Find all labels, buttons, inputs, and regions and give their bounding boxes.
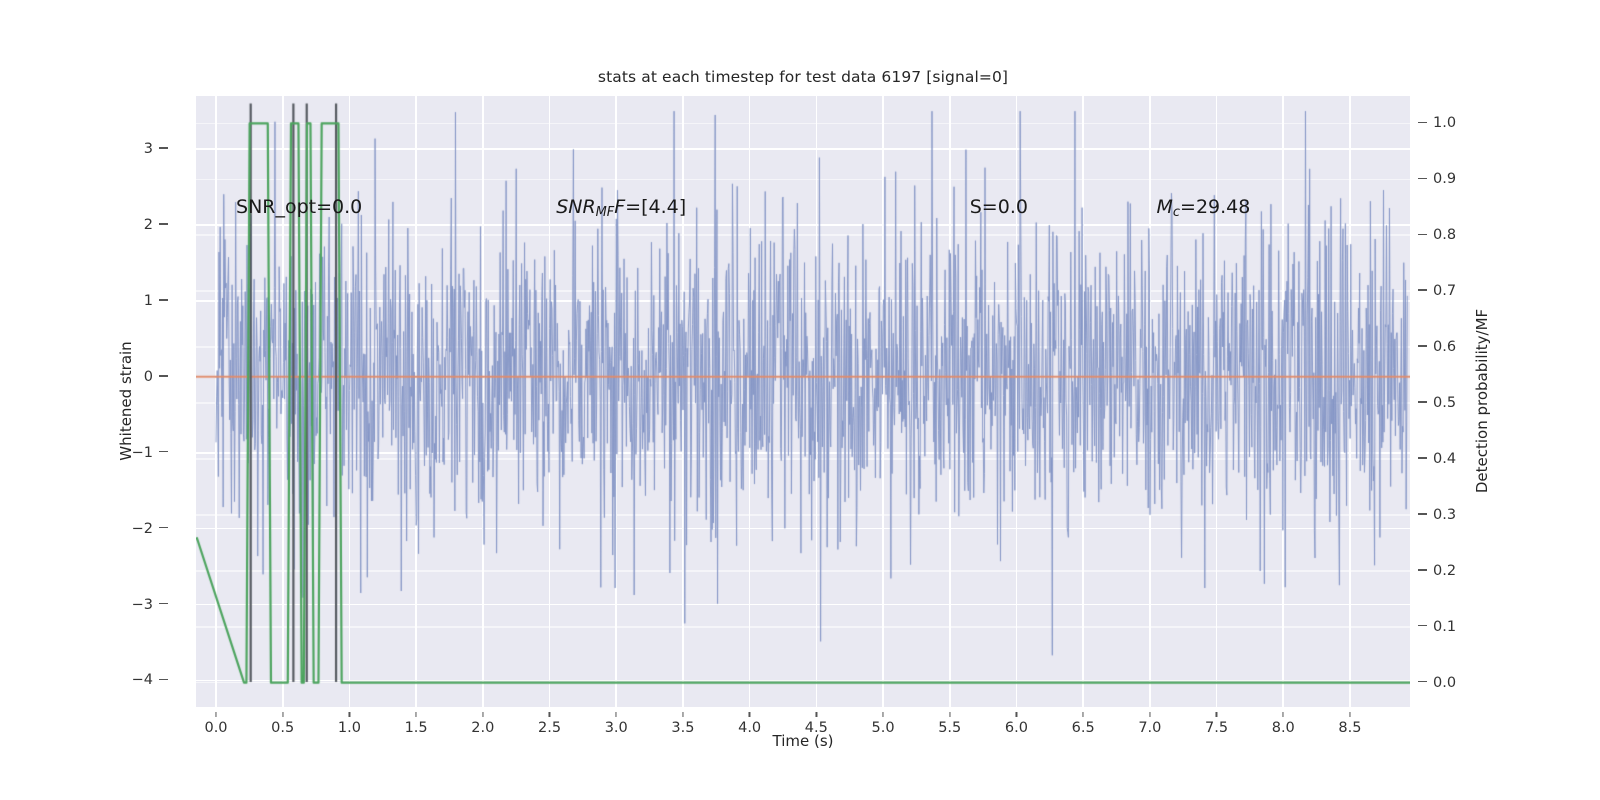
page-title: stats at each timestep for test data 619…	[3, 68, 1600, 86]
y-tick-label-left: 1	[144, 293, 168, 309]
x-tick-label: 8.5	[1338, 712, 1361, 736]
y-axis-right-ticks: 1.00.90.80.70.60.50.40.30.20.10.0	[1410, 0, 1600, 800]
x-tick-label: 5.0	[872, 712, 895, 736]
x-tick-label: 3.0	[605, 712, 628, 736]
y-tick-label-left: −3	[132, 597, 168, 613]
plot-data-canvas	[196, 96, 1410, 707]
x-tick-label: 6.5	[1072, 712, 1095, 736]
y-tick-label-left: −4	[132, 672, 168, 688]
figure-canvas: stats at each timestep for test data 619…	[0, 0, 1600, 800]
y-axis-left-label: Whitened strain	[117, 341, 135, 460]
y-tick-label-right: 0.2	[1418, 563, 1456, 579]
y-axis-right-label: Detection probability/MF	[1473, 309, 1491, 493]
y-tick-label-left: 2	[144, 217, 168, 233]
y-tick-label-right: 0.5	[1418, 395, 1456, 411]
y-tick-label-right: 0.4	[1418, 451, 1456, 467]
annotation-snr-opt: SNR_opt=0.0	[236, 196, 362, 218]
plot-axes-area: SNR_opt=0.0SNRMFF=[4.4]S=0.0Mc=29.48 sig…	[196, 96, 1410, 707]
y-tick-label-left: 0	[144, 369, 168, 385]
y-tick-label-right: 0.9	[1418, 171, 1456, 187]
y-tick-label-left: −2	[132, 521, 168, 537]
y-tick-label-left: −1	[132, 445, 168, 461]
y-tick-label-left: 3	[144, 141, 168, 157]
x-tick-label: 6.0	[1005, 712, 1028, 736]
annotation-detection-stat: S=0.0	[970, 196, 1028, 218]
x-tick-label: 1.0	[338, 712, 361, 736]
y-tick-label-right: 0.8	[1418, 227, 1456, 243]
annotation-snr-mf: SNRMFF=[4.4]	[556, 196, 686, 220]
y-tick-label-right: 0.6	[1418, 339, 1456, 355]
x-tick-label: 4.0	[738, 712, 761, 736]
x-tick-label: 2.5	[538, 712, 561, 736]
x-tick-label: 7.5	[1205, 712, 1228, 736]
x-tick-label: 1.5	[405, 712, 428, 736]
y-tick-label-right: 0.7	[1418, 283, 1456, 299]
x-tick-label: 0.0	[204, 712, 227, 736]
x-tick-label: 5.5	[938, 712, 961, 736]
y-tick-label-right: 0.1	[1418, 619, 1456, 635]
x-tick-label: 8.0	[1272, 712, 1295, 736]
annotation-chirp-mass: Mc=29.48	[1157, 196, 1251, 220]
y-tick-label-right: 0.0	[1418, 675, 1456, 691]
x-tick-label: 2.0	[471, 712, 494, 736]
x-axis-label: Time (s)	[773, 732, 834, 750]
y-tick-label-right: 1.0	[1418, 115, 1456, 131]
y-axis-left-ticks: 3210−1−2−3−4	[0, 0, 190, 800]
x-tick-label: 3.5	[671, 712, 694, 736]
x-tick-label: 0.5	[271, 712, 294, 736]
x-tick-label: 7.0	[1138, 712, 1161, 736]
y-tick-label-right: 0.3	[1418, 507, 1456, 523]
